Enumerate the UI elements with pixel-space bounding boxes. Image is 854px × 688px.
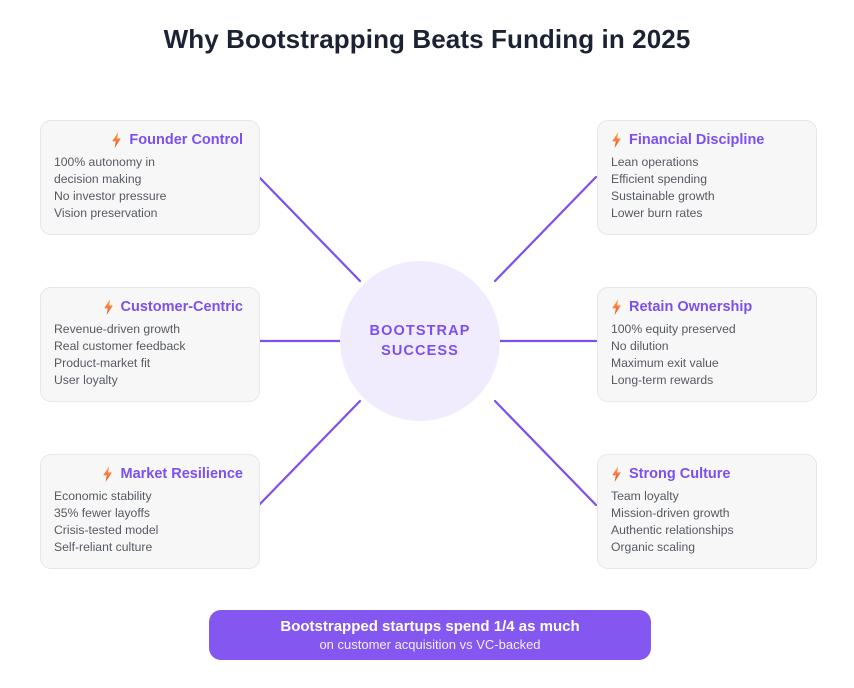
connector-left-top [259, 177, 360, 281]
list-item: Economic stability [54, 488, 246, 505]
list-item: Authentic relationships [611, 522, 803, 539]
card-title: Market Resilience [120, 466, 243, 482]
hub-title-line2: SUCCESS [381, 341, 459, 361]
card-header: Retain Ownership [611, 299, 803, 315]
lightning-bolt-icon [102, 466, 113, 482]
connector-left-bottom [259, 401, 360, 505]
card-bullet-list: 100% autonomy in decision making No inve… [54, 154, 246, 222]
node-card-financial-discipline[interactable]: Financial Discipline Lean operations Eff… [597, 120, 817, 235]
lightning-bolt-icon [103, 299, 114, 315]
node-card-strong-culture[interactable]: Strong Culture Team loyalty Mission-driv… [597, 454, 817, 569]
card-title: Retain Ownership [629, 299, 752, 315]
infographic-canvas: Why Bootstrapping Beats Funding in 2025 … [0, 0, 854, 688]
list-item: Vision preservation [54, 205, 246, 222]
list-item: Team loyalty [611, 488, 803, 505]
lightning-bolt-icon [611, 466, 622, 482]
list-item: No investor pressure [54, 188, 246, 205]
lightning-bolt-icon [611, 132, 622, 148]
list-item: Long-term rewards [611, 372, 803, 389]
center-hub: BOOTSTRAP SUCCESS [340, 261, 500, 421]
list-item: 100% autonomy in decision making [54, 154, 246, 188]
page-title: Why Bootstrapping Beats Funding in 2025 [0, 24, 854, 55]
list-item: Product-market fit [54, 355, 246, 372]
list-item: Real customer feedback [54, 338, 246, 355]
card-bullet-list: Economic stability 35% fewer layoffs Cri… [54, 488, 246, 556]
lightning-bolt-icon [611, 299, 622, 315]
banner-subline: on customer acquisition vs VC-backed [319, 636, 540, 653]
hub-title-line1: BOOTSTRAP [370, 321, 471, 341]
list-item: Crisis-tested model [54, 522, 246, 539]
list-item: Mission-driven growth [611, 505, 803, 522]
card-bullet-list: Lean operations Efficient spending Susta… [611, 154, 803, 222]
card-header: Founder Control [54, 132, 246, 148]
node-card-market-resilience[interactable]: Market Resilience Economic stability 35%… [40, 454, 260, 569]
node-card-retain-ownership[interactable]: Retain Ownership 100% equity preserved N… [597, 287, 817, 402]
lightning-bolt-icon [111, 132, 122, 148]
card-header: Strong Culture [611, 466, 803, 482]
connector-right-bottom [495, 401, 596, 505]
list-item: Lower burn rates [611, 205, 803, 222]
list-item: Sustainable growth [611, 188, 803, 205]
list-item: Revenue-driven growth [54, 321, 246, 338]
list-item: No dilution [611, 338, 803, 355]
card-header: Market Resilience [54, 466, 246, 482]
card-header: Financial Discipline [611, 132, 803, 148]
list-item: User loyalty [54, 372, 246, 389]
card-bullet-list: Revenue-driven growth Real customer feed… [54, 321, 246, 389]
node-card-founder-control[interactable]: Founder Control 100% autonomy in decisio… [40, 120, 260, 235]
list-item: Organic scaling [611, 539, 803, 556]
list-item: Efficient spending [611, 171, 803, 188]
connector-right-top [495, 177, 596, 281]
list-item: 35% fewer layoffs [54, 505, 246, 522]
card-title: Financial Discipline [629, 132, 764, 148]
list-item: Lean operations [611, 154, 803, 171]
card-header: Customer-Centric [54, 299, 246, 315]
card-title: Customer-Centric [121, 299, 243, 315]
card-title: Strong Culture [629, 466, 731, 482]
node-card-customer-centric[interactable]: Customer-Centric Revenue-driven growth R… [40, 287, 260, 402]
card-bullet-list: 100% equity preserved No dilution Maximu… [611, 321, 803, 389]
banner-headline: Bootstrapped startups spend 1/4 as much [280, 617, 579, 636]
list-item: Maximum exit value [611, 355, 803, 372]
list-item: Self-reliant culture [54, 539, 246, 556]
card-title: Founder Control [129, 132, 243, 148]
card-bullet-list: Team loyalty Mission-driven growth Authe… [611, 488, 803, 556]
list-item: 100% equity preserved [611, 321, 803, 338]
summary-banner: Bootstrapped startups spend 1/4 as much … [209, 610, 651, 660]
